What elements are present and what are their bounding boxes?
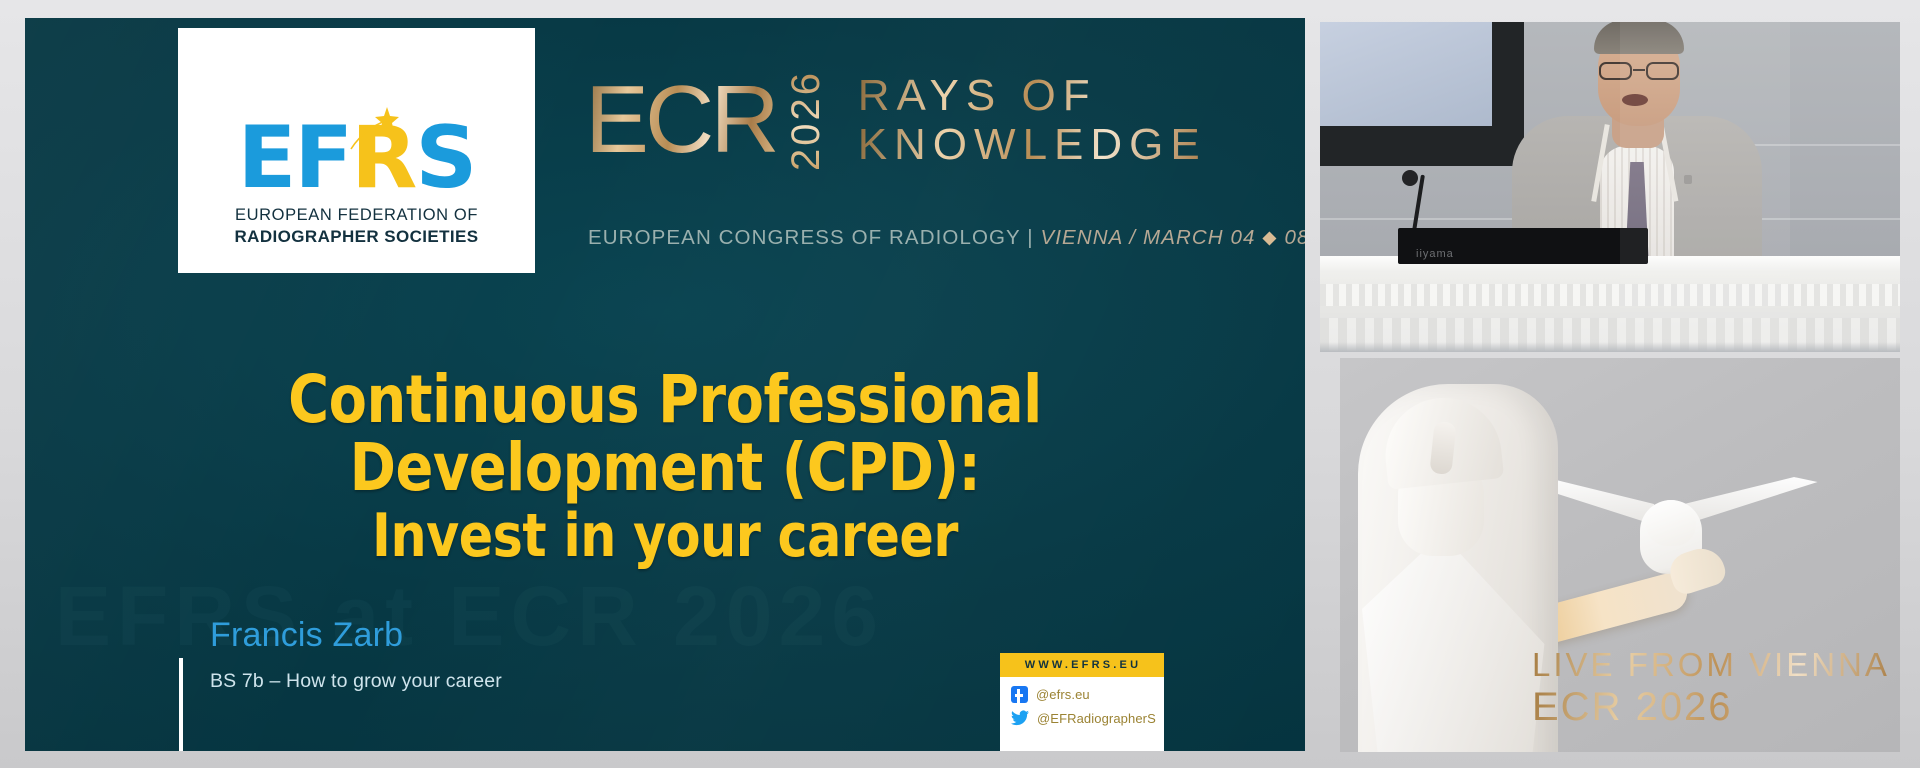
efrs-wordmark: E F R S [238,123,476,194]
efrs-logo: E F R S EUROPEAN FEDERATION OF RADIOGRAP… [178,28,535,273]
venue-caption-line2: ECR 2026 [1532,684,1890,730]
venue-caption-line1: LIVE FROM VIENNA [1532,646,1890,684]
venue-caption: LIVE FROM VIENNA ECR 2026 [1532,646,1890,730]
social-row-facebook[interactable]: @efrs.eu [1011,686,1155,703]
ecr-tagline-line1: RAYS OF [858,71,1207,120]
slide-canvas[interactable]: EFRS at ECR 2026 E F R S EUROPEAN FEDERA… [25,18,1305,751]
author-name: Francis Zarb [210,616,502,655]
ecr-2026-logo: ECR 2026 RAYS OF KNOWLEDGE EUROPEAN CONG… [585,70,1285,260]
author-accent-rule [179,658,183,751]
ecr-logo-row: ECR 2026 RAYS OF KNOWLEDGE [585,70,1285,171]
lectern [1320,256,1900,352]
twitter-handle: @EFRadiographerS [1037,711,1156,726]
monitor-brand-label: iiyama [1416,248,1454,260]
slide-title: Continuous Professional Development (CPD… [125,366,1205,568]
ecr-subtitle-end: 08 [1278,226,1305,249]
ecr-subtitle-location: VIENNA / MARCH 04 [1040,226,1262,249]
microphone-head-icon [1402,170,1418,186]
title-line-3: Invest in your career [157,506,1172,568]
venue-brand-graphic[interactable]: LIVE FROM VIENNA ECR 2026 [1340,358,1900,752]
twitter-icon [1011,710,1029,726]
efrs-letter-r: R [351,123,415,194]
owl-wing-right [1682,469,1818,534]
title-line-1: Continuous Professional [157,366,1172,434]
ecr-subtitle-diamond-icon: ⬥ [1262,226,1277,249]
projection-screen [1320,22,1524,166]
facebook-handle: @efrs.eu [1036,687,1090,702]
social-row-twitter[interactable]: @EFRadiographerS [1011,710,1155,726]
ecr-wordmark: ECR [585,72,776,168]
ecr-subtitle: EUROPEAN CONGRESS OF RADIOLOGY | VIENNA … [588,226,1305,250]
website-url[interactable]: WWW.EFRS.EU [1000,653,1164,677]
owl-face [1646,500,1696,546]
efrs-subtitle-line2: RADIOGRAPHER SOCIETIES [235,227,479,247]
efrs-letter-e: E [238,123,295,194]
social-card: WWW.EFRS.EU @efrs.eu @EFRadiographerS [1000,653,1164,751]
ecr-tagline-line2: KNOWLEDGE [858,120,1207,169]
speaker-video-feed[interactable]: iiyama [1320,22,1900,352]
projection-screen-surface [1320,22,1492,126]
efrs-subtitle-line1: EUROPEAN FEDERATION OF [235,206,478,225]
ecr-year: 2026 [786,70,826,171]
social-handles: @efrs.eu @EFRadiographerS [1000,677,1164,751]
session-label: BS 7b – How to grow your career [210,670,502,693]
video-bottom-fade [1320,342,1900,352]
ecr-subtitle-prefix: EUROPEAN CONGRESS OF RADIOLOGY | [588,226,1040,249]
presentation-viewer: EFRS at ECR 2026 E F R S EUROPEAN FEDERA… [0,0,1920,768]
author-block: Francis Zarb BS 7b – How to grow your ca… [210,616,502,693]
efrs-letter-s: S [415,123,475,194]
title-line-2: Development (CPD): [157,434,1172,502]
ecr-tagline: RAYS OF KNOWLEDGE [858,71,1207,170]
efrs-letter-f: F [294,123,351,194]
facebook-icon [1011,686,1028,703]
lectern-bead-molding [1320,284,1900,306]
video-light-overlay [1620,22,1790,352]
